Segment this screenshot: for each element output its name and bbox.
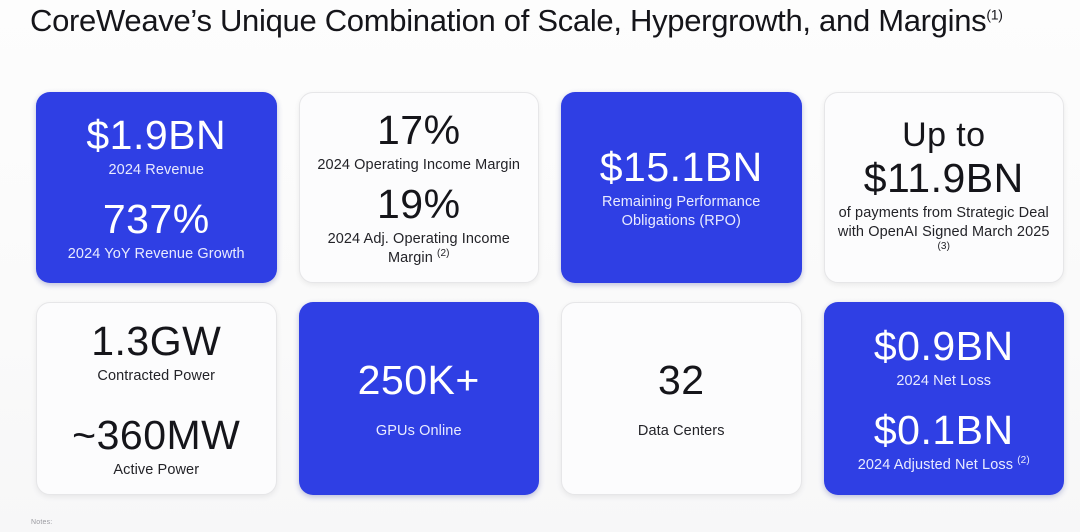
metric-secondary-label: 2024 YoY Revenue Growth [68, 245, 245, 264]
metric-primary-label: Data Centers [638, 422, 725, 441]
metric-secondary-label-text: 2024 Adjusted Net Loss [858, 457, 1013, 473]
metric-secondary-value: 737% [103, 196, 210, 242]
notes-label: Notes: [31, 518, 52, 528]
metric-secondary-footnote: (2) [1017, 455, 1030, 466]
metric-secondary-label: Active Power [113, 461, 199, 480]
metric-secondary-label: 2024 Adjusted Net Loss (2) [858, 456, 1030, 475]
metric-primary-value: 250K+ [358, 357, 480, 403]
metric-primary-label: 2024 Revenue [108, 161, 204, 180]
metric-primary-label-text: of payments from Strategic Deal with Ope… [838, 205, 1050, 240]
page-title: CoreWeave’s Unique Combination of Scale,… [30, 2, 1040, 40]
metric-primary-value: 32 [658, 357, 705, 403]
metric-primary-label: GPUs Online [376, 422, 462, 441]
metric-secondary-footnote: (2) [437, 248, 450, 259]
slide-canvas: CoreWeave’s Unique Combination of Scale,… [0, 0, 1080, 532]
page-title-text: CoreWeave’s Unique Combination of Scale,… [30, 3, 986, 38]
metric-card-net-loss[interactable]: $0.9BN 2024 Net Loss $0.1BN 2024 Adjuste… [824, 302, 1065, 495]
metric-primary-label: 2024 Net Loss [896, 372, 991, 391]
metric-primary-value: 17% [377, 107, 461, 153]
metric-primary-value: 1.3GW [91, 318, 221, 364]
metric-primary-value: $15.1BN [600, 144, 763, 190]
metric-card-power[interactable]: 1.3GW Contracted Power ~360MW Active Pow… [36, 302, 277, 495]
metric-primary-label: Remaining Performance Obligations (RPO) [571, 193, 792, 231]
metric-secondary-label: 2024 Adj. Operating Income Margin (2) [310, 230, 529, 268]
metric-secondary-value: $0.1BN [874, 407, 1014, 453]
metric-secondary-value: ~360MW [72, 412, 240, 458]
metric-primary-footnote: (3) [937, 241, 950, 252]
metric-card-operating-margin[interactable]: 17% 2024 Operating Income Margin 19% 202… [299, 92, 540, 283]
page-title-footnote: (1) [986, 7, 1002, 23]
metric-primary-label: 2024 Operating Income Margin [317, 156, 520, 175]
metric-secondary-value: 19% [377, 181, 461, 227]
metric-primary-value: $0.9BN [874, 323, 1014, 369]
metric-secondary-label-text: 2024 Adj. Operating Income Margin [328, 231, 510, 266]
metric-primary-value: $1.9BN [86, 112, 226, 158]
metric-card-gpus[interactable]: 250K+ GPUs Online [299, 302, 540, 495]
metric-card-openai-deal[interactable]: Up to $11.9BN of payments from Strategic… [824, 92, 1065, 283]
metric-card-data-centers[interactable]: 32 Data Centers [561, 302, 802, 495]
metric-card-grid: $1.9BN 2024 Revenue 737% 2024 YoY Revenu… [36, 92, 1064, 496]
metric-primary-value: $11.9BN [864, 155, 1024, 201]
metric-card-rpo[interactable]: $15.1BN Remaining Performance Obligation… [561, 92, 802, 283]
metric-primary-label: of payments from Strategic Deal with Ope… [835, 204, 1054, 261]
metric-card-revenue[interactable]: $1.9BN 2024 Revenue 737% 2024 YoY Revenu… [36, 92, 277, 283]
metric-prefix: Up to [902, 115, 985, 155]
metric-primary-label: Contracted Power [97, 367, 215, 386]
